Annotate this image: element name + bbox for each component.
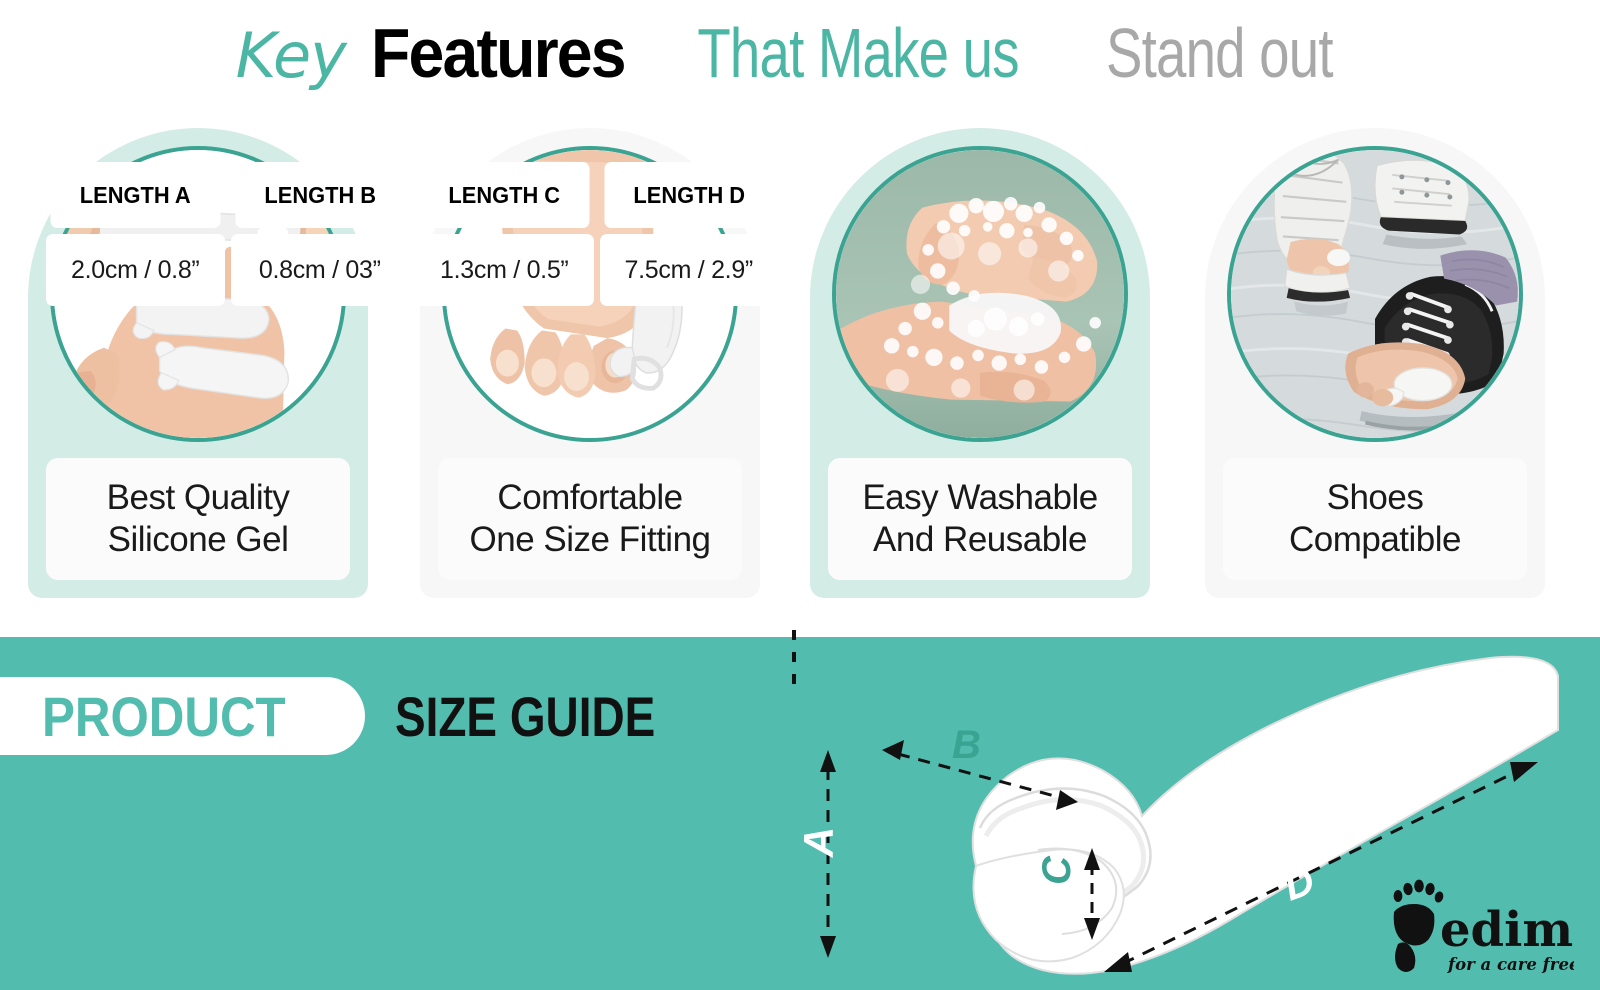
feature-photo-frame	[1227, 146, 1523, 442]
table-value-cell: 2.0cm / 0.8”	[46, 234, 225, 306]
table-value-cell: 7.5cm / 2.9”	[600, 234, 779, 306]
feature-label-box: Comfortable One Size Fitting	[438, 458, 742, 580]
feature-label-box: Best Quality Silicone Gel	[46, 458, 350, 580]
feature-label-text: Easy Washable And Reusable	[862, 477, 1097, 561]
feature-card: Shoes Compatible	[1205, 128, 1545, 606]
dimension-label-b: B	[952, 723, 981, 768]
title-pill: PRODUCT	[0, 677, 365, 755]
title-pill-text: PRODUCT	[42, 684, 286, 749]
feature-label-text: Shoes Compatible	[1289, 477, 1461, 561]
key-features-section: KeyFeaturesThat Make usStand out	[0, 0, 1600, 637]
infographic-page: KeyFeaturesThat Make usStand out	[0, 0, 1600, 990]
page-title: KeyFeaturesThat Make usStand out	[0, 18, 1600, 88]
size-guide-title: PRODUCT SIZE GUIDE	[0, 677, 712, 755]
feature-card: Easy Washable And Reusable	[810, 128, 1150, 606]
table-header-cell: LENGTH A	[50, 162, 220, 228]
headline-part-stand: Stand out	[1106, 18, 1333, 88]
washing-hands-photo	[836, 150, 1124, 438]
brand-wordmark: edimend	[1440, 902, 1574, 958]
dimension-label-a: A	[795, 827, 843, 857]
headline-part-that: That Make us	[697, 18, 1018, 88]
table-header-cell: LENGTH B	[235, 162, 405, 228]
feature-photo-frame	[832, 146, 1128, 442]
table-header-cell: LENGTH C	[419, 162, 589, 228]
brand-logo: edimend for a care free step	[1378, 872, 1574, 976]
dimension-label-c: C	[1035, 856, 1080, 885]
table-value-cell: 0.8cm / 03”	[231, 234, 410, 306]
feature-label-box: Shoes Compatible	[1223, 458, 1527, 580]
feature-label-box: Easy Washable And Reusable	[828, 458, 1132, 580]
ice-skates-photo	[1231, 150, 1519, 438]
table-value-cell: 1.3cm / 0.5”	[415, 234, 594, 306]
size-table: LENGTH A LENGTH B LENGTH C LENGTH D 2.0c…	[46, 162, 778, 306]
feature-label-text: Best Quality Silicone Gel	[107, 477, 290, 561]
brand-tagline: for a care free step	[1447, 955, 1574, 974]
footprint-icon	[1394, 880, 1445, 972]
table-header-cell: LENGTH D	[604, 162, 774, 228]
headline-part-key: Key	[236, 19, 346, 92]
feature-label-text: Comfortable One Size Fitting	[470, 477, 711, 561]
title-rest-text: SIZE GUIDE	[395, 684, 655, 749]
headline-part-features: Features	[371, 18, 625, 88]
